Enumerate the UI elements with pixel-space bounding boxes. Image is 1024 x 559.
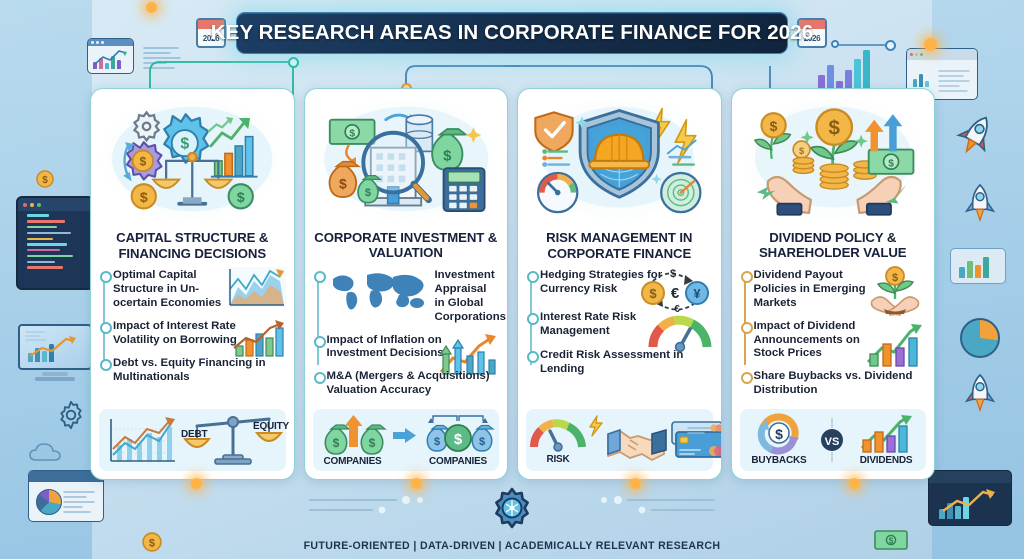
credit-card-icon <box>670 420 722 460</box>
growth-bar-chart-icon <box>858 414 914 454</box>
rocket-icon-3 <box>962 372 998 414</box>
scale-label-debt: DEBT <box>181 429 207 440</box>
list-item[interactable]: Impact of Dividend Announcements on Stoc… <box>754 320 927 362</box>
list-item[interactable]: Hedging Strategies for Currency Risk $ €… <box>540 269 713 297</box>
card-heading: CAPITAL STRUCTURE & FINANCING DECISIONS <box>99 230 286 261</box>
bullet-text: Share Buybacks vs. Dividend Distribution <box>754 370 927 398</box>
buybacks-label: BUYBACKS <box>751 455 806 466</box>
card-heading: RISK MANAGEMENT IN CORPORATE FINANCE <box>526 230 713 261</box>
card-heading: CORPORATE INVESTMENT & VALUATION <box>313 230 500 261</box>
glow-dot-bottom-2 <box>411 478 422 489</box>
gear-icon <box>56 400 86 430</box>
svg-text:$: $ <box>775 426 783 442</box>
card-heading: DIVIDEND POLICY & SHAREHOLDER VALUE <box>740 230 927 261</box>
risk-label: RISK <box>546 454 569 465</box>
world-map <box>327 269 431 313</box>
page-title: KEY RESEARCH AREAS IN CORPORATE FINANCE … <box>211 21 813 45</box>
bullet-text: Impact of Interest Rate Volatility on Bo… <box>113 320 241 348</box>
svg-text:$: $ <box>888 158 894 169</box>
infographic-canvas: 2026 2026 KEY RESEARCH AREAS IN CORPORAT… <box>0 0 1024 559</box>
svg-text:$: $ <box>798 146 804 156</box>
companies-source-group: $ $ COMPANIES <box>317 413 389 467</box>
code-editor-icon <box>16 196 94 290</box>
companies-label-right: COMPANIES <box>429 456 487 467</box>
cards-row: $ $ <box>90 88 935 480</box>
card-corporate-investment[interactable]: $ <box>304 88 509 480</box>
svg-text:$: $ <box>454 431 463 448</box>
browser-chart-icon <box>87 38 134 74</box>
glow-dot-bottom-4 <box>849 478 860 489</box>
gauge <box>647 311 713 353</box>
area-chart-footer <box>105 415 179 465</box>
bullet-text: Dividend Payout Policies in Emerging Mar… <box>754 269 882 311</box>
connector-node-teal <box>288 57 299 68</box>
svg-text:$: $ <box>332 436 339 450</box>
svg-text:$: $ <box>140 189 148 205</box>
gauge-icon <box>538 173 577 212</box>
list-item[interactable]: Dividend Payout Policies in Emerging Mar… <box>754 269 927 311</box>
currency-cycle: $ € $ € ¥ <box>637 265 713 313</box>
versus-label: VS <box>825 436 840 448</box>
svg-text:$: $ <box>669 268 675 280</box>
buybacks-group: $ BUYBACKS <box>751 414 806 466</box>
gear-icon <box>134 112 158 140</box>
hero-capital-structure: $ $ <box>99 95 286 223</box>
hero-dividend-policy: $ $ $ <box>740 95 927 223</box>
bullet-list: Dividend Payout Policies in Emerging Mar… <box>740 269 927 407</box>
card-footer-strip: RISK <box>526 409 713 471</box>
card-dividend-policy[interactable]: $ $ $ <box>731 88 936 480</box>
rocket-icon <box>956 112 996 158</box>
list-item[interactable]: Investment Appraisal in Global Corporati… <box>327 269 500 325</box>
arrows-bar-chart <box>437 332 499 376</box>
dividends-group: DIVIDENDS <box>858 414 914 466</box>
gauge-icon-footer <box>530 415 586 453</box>
bar-chart-icon-right <box>950 248 1006 284</box>
card-footer-strip: DEBT EQUITY <box>99 409 286 471</box>
monitor-chart-icon-right <box>928 470 1012 526</box>
list-item[interactable]: Debt vs. Equity Financing in Multination… <box>113 357 286 385</box>
svg-text:$: $ <box>338 176 346 192</box>
list-item[interactable]: Impact of Inflation on Investment Decisi… <box>327 334 500 362</box>
svg-text:$: $ <box>443 148 452 165</box>
versus-badge-icon: VS <box>818 418 846 462</box>
bar-chart-icon <box>818 50 870 92</box>
pie-chart-icon <box>36 489 62 515</box>
bullet-text: Investment Appraisal in Global Corporati… <box>435 269 500 325</box>
monitor-chart-icon <box>18 324 92 382</box>
money-bags-result-icon: $ $ $ <box>421 413 495 455</box>
lightning-icon-footer <box>588 415 604 437</box>
merge-arrow-icon <box>393 425 417 445</box>
glow-dot <box>924 38 937 51</box>
pie-chart-icon-right <box>960 318 1000 358</box>
svg-text:$: $ <box>649 286 657 301</box>
card-risk-management[interactable]: RISK MANAGEMENT IN CORPORATE FINANCE Hed… <box>517 88 722 480</box>
glow-dot-bottom-3 <box>630 478 641 489</box>
bullet-text: Impact of Dividend Announcements on Stoc… <box>754 320 882 362</box>
list-item[interactable]: Credit Risk Assessment in Lending <box>540 349 713 377</box>
glow-dot-bottom-1 <box>191 478 202 489</box>
companies-result-group: $ $ $ COMPANIES <box>421 413 495 467</box>
footer-tagline: FUTURE-ORIENTED | DATA-DRIVEN | ACADEMIC… <box>0 540 1024 552</box>
dividends-label: DIVIDENDS <box>860 455 913 466</box>
bullet-list: Optimal Capital Structure in Un-ocertain… <box>99 269 286 407</box>
list-item[interactable]: Share Buybacks vs. Dividend Distribution <box>754 370 927 398</box>
list-item[interactable]: Optimal Capital Structure in Un-ocertain… <box>113 269 286 311</box>
hero-risk-management <box>526 95 713 223</box>
card-footer-strip: $ $ COMPANIES <box>313 409 500 471</box>
bottom-connector-lines <box>300 486 724 528</box>
bullet-list: Hedging Strategies for Currency Risk $ €… <box>526 269 713 407</box>
bullet-text: Credit Risk Assessment in Lending <box>540 349 713 377</box>
svg-text:$: $ <box>828 117 840 140</box>
connector-node-blue <box>885 40 896 51</box>
risk-gauge-group: RISK <box>530 415 586 465</box>
banknote-icon: $ <box>329 120 374 144</box>
calculator-icon <box>443 168 484 211</box>
bar-arrow-chart <box>864 322 926 368</box>
money-plant: $ <box>864 267 926 315</box>
svg-text:$: $ <box>180 136 189 153</box>
bullet-text: Impact of Inflation on Investment Decisi… <box>327 334 455 362</box>
svg-text:¥: ¥ <box>693 286 701 301</box>
title-container: KEY RESEARCH AREAS IN CORPORATE FINANCE … <box>236 12 788 54</box>
svg-text:$: $ <box>479 436 485 448</box>
glow-dot-2 <box>146 2 157 13</box>
rocket-icon-2 <box>962 182 998 224</box>
svg-text:$: $ <box>349 128 355 139</box>
card-footer-strip: $ BUYBACKS VS <box>740 409 927 471</box>
svg-text:$: $ <box>364 187 371 199</box>
svg-text:$: $ <box>769 118 777 134</box>
svg-text:€: € <box>670 285 679 302</box>
svg-text:$: $ <box>368 436 375 450</box>
area-chart <box>228 267 286 307</box>
svg-text:$: $ <box>434 436 440 448</box>
list-item[interactable]: M&A (Mergers & Acquisitions) Valuation A… <box>327 370 500 398</box>
buyback-cycle-icon: $ <box>753 414 805 454</box>
banknote-icon: $ <box>868 150 913 174</box>
text-lines-decoration <box>144 46 184 72</box>
bullet-text: M&A (Mergers & Acquisitions) Valuation A… <box>327 370 500 398</box>
handshake-icon <box>606 418 668 462</box>
svg-text:$: $ <box>237 189 245 205</box>
title-banner: KEY RESEARCH AREAS IN CORPORATE FINANCE … <box>236 12 788 54</box>
scale-label-equity: EQUITY <box>253 421 289 432</box>
companies-label-left: COMPANIES <box>323 456 381 467</box>
bullet-list: Investment Appraisal in Global Corporati… <box>313 269 500 407</box>
radar-icon <box>661 173 700 212</box>
bar-arrow-chart <box>228 318 286 358</box>
list-item[interactable]: Impact of Interest Rate Volatility on Bo… <box>113 320 286 348</box>
money-bags-merge-icon: $ $ <box>317 413 389 455</box>
bullet-text: Debt vs. Equity Financing in Multination… <box>113 357 286 385</box>
svg-text:$: $ <box>892 272 898 284</box>
bullet-text: Optimal Capital Structure in Un-ocertain… <box>113 269 241 311</box>
card-capital-structure[interactable]: $ $ <box>90 88 295 480</box>
tech-gear-emblem-icon <box>488 487 536 535</box>
svg-text:$: $ <box>139 155 146 169</box>
connector-node-blue-2 <box>831 40 839 48</box>
list-item[interactable]: Interest Rate Risk Management <box>540 311 713 339</box>
hero-corporate-investment: $ <box>313 95 500 223</box>
